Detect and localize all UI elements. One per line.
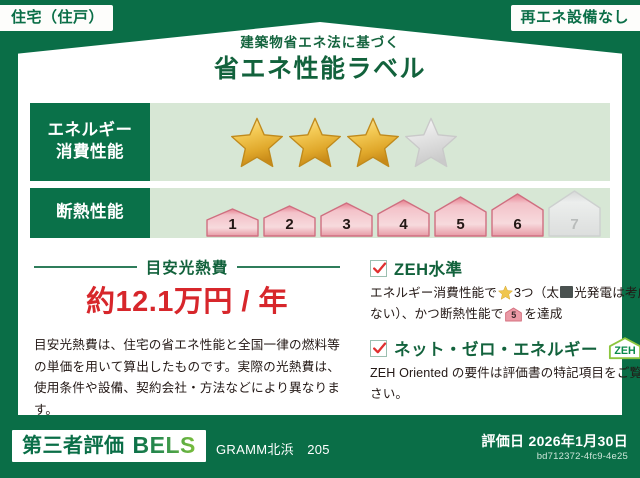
zeh-body-part2: 3つ（太 — [514, 286, 559, 300]
grade-badge-2: 2 — [262, 204, 317, 237]
energy-label-line1: エネルギー — [48, 120, 133, 142]
zeh-standard-body: エネルギー消費性能で3つ（太光発電は考慮しない）、かつ断熱性能で5を達成 — [370, 283, 640, 325]
star-filled-icon — [230, 115, 284, 169]
insulation-performance-value: 1 2 3 — [150, 188, 610, 238]
svg-text:ZEH: ZEH — [614, 345, 635, 357]
utility-cost-note: 目安光熱費は、住宅の省エネ性能と全国一律の燃料等の単価を用いて算出したものです。… — [34, 335, 340, 422]
energy-performance-label: エネルギー 消費性能 — [30, 103, 150, 181]
checkbox-checked[interactable] — [370, 340, 387, 357]
lower-content: 目安光熱費 約12.1万円 / 年 目安光熱費は、住宅の省エネ性能と全国一律の燃… — [18, 245, 622, 415]
utility-cost-heading: 目安光熱費 — [34, 256, 340, 278]
checkbox-checked[interactable] — [370, 260, 387, 277]
zeh-house-icon: ZEH — [607, 336, 640, 360]
utility-cost-heading-text: 目安光熱費 — [146, 256, 229, 278]
grade-badge-4: 4 — [376, 198, 431, 237]
insulation-performance-row: 断熱性能 1 — [30, 188, 610, 238]
building-type-badge: 住宅（住戸） — [0, 5, 113, 31]
net-zero-title: ネット・ゼロ・エネルギー — [394, 336, 598, 360]
star-rating — [150, 115, 458, 169]
inline-grade-badge: 5 — [505, 307, 522, 322]
grade-number: 7 — [547, 216, 602, 233]
zeh-oriented-logo: ZEH ZEH Oriented — [607, 336, 640, 360]
grade-number: 5 — [433, 216, 488, 233]
label-title-block: 建築物省エネ法に基づく 省エネ性能ラベル — [18, 36, 622, 84]
grade-number: 3 — [319, 216, 374, 233]
grade-number: 4 — [376, 216, 431, 233]
rule-right — [237, 266, 340, 268]
net-zero-heading: ネット・ゼロ・エネルギー ZEH ZEH Oriented — [370, 336, 640, 360]
insulation-grade-scale: 1 2 3 — [150, 189, 602, 237]
star-empty-icon — [404, 115, 458, 169]
evaluation-id: bd712372-4fc9-4e25 — [537, 451, 628, 462]
grade-badge-3: 3 — [319, 201, 374, 237]
energy-label-line2: 消費性能 — [56, 142, 124, 164]
evaluation-date: 評価日 2026年1月30日 — [481, 431, 628, 451]
footer-bar: 第三者評価 BELS GRAMM北浜 205 評価日 2026年1月30日 bd… — [0, 420, 640, 478]
net-zero-body: ZEH Oriented の要件は評価書の特記項目をご覧ください。 — [370, 363, 640, 405]
label-subtitle: 建築物省エネ法に基づく — [18, 36, 622, 51]
redacted-character — [560, 286, 573, 298]
check-icon — [372, 341, 387, 356]
bels-logo-jp: 第三者評価 — [22, 436, 125, 456]
bels-logo-en: BELS — [133, 434, 196, 457]
grade-number: 6 — [490, 216, 545, 233]
bels-logo: 第三者評価 BELS — [12, 430, 206, 462]
property-name: GRAMM北浜 205 — [216, 439, 330, 458]
zeh-standard-heading: ZEH水準 — [370, 256, 640, 280]
utility-cost-column: 目安光熱費 約12.1万円 / 年 目安光熱費は、住宅の省エネ性能と全国一律の燃… — [18, 245, 356, 415]
label-body-card: エネルギー 消費性能 — [18, 93, 622, 415]
grade-badge-6: 6 — [490, 192, 545, 237]
grade-number: 1 — [205, 216, 260, 233]
zeh-body-part4: を達成 — [524, 307, 562, 321]
energy-performance-label: 住宅（住戸） 再エネ設備なし 建築物省エネ法に基づく 省エネ性能ラベル エネルギ… — [0, 0, 640, 478]
zeh-column: ZEH水準 エネルギー消費性能で3つ（太光発電は考慮しない）、かつ断熱性能で5を… — [356, 245, 640, 415]
grade-badge-5: 5 — [433, 195, 488, 237]
insulation-performance-label: 断熱性能 — [30, 188, 150, 238]
energy-performance-row: エネルギー 消費性能 — [30, 103, 610, 181]
check-icon — [372, 261, 387, 276]
zeh-standard-title: ZEH水準 — [394, 256, 463, 280]
rule-left — [34, 266, 137, 268]
grade-badge-7: 7 — [547, 189, 602, 237]
inline-star-icon — [498, 285, 513, 300]
inline-grade-number: 5 — [505, 308, 522, 323]
utility-cost-value: 約12.1万円 / 年 — [34, 287, 340, 319]
star-filled-icon — [346, 115, 400, 169]
page-title: 省エネ性能ラベル — [18, 55, 622, 84]
grade-badge-1: 1 — [205, 207, 260, 237]
grade-number: 2 — [262, 216, 317, 233]
star-filled-icon — [288, 115, 342, 169]
renewable-equipment-badge: 再エネ設備なし — [511, 5, 640, 31]
zeh-body-part1: エネルギー消費性能で — [370, 286, 497, 300]
energy-performance-value — [150, 103, 610, 181]
